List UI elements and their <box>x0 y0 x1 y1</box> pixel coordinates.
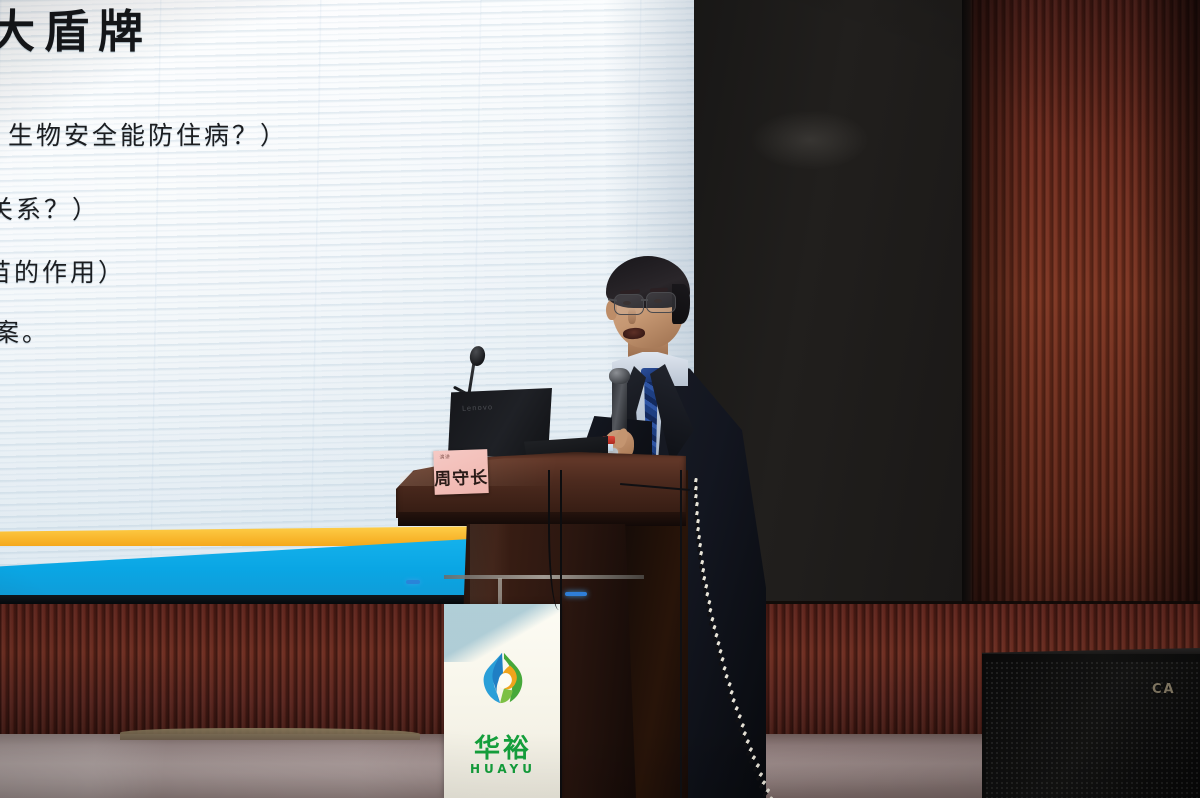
power-cable-loop <box>548 470 566 610</box>
photo-scene: 控四大盾牌 物安全？生物安全能防住病？） 疾病有关系？） 待疫苗的作用） 敦预案… <box>0 0 1200 798</box>
podium-indicator-led-secondary <box>406 580 420 584</box>
banner-brand-en: HUAYU <box>444 762 562 776</box>
podium-indicator-led <box>565 592 587 596</box>
speaker-name-card: 演讲 周守长 <box>433 449 489 495</box>
banner-brand-cn: 华裕 <box>444 728 562 765</box>
slide-bullet-2: 疾病有关系？） <box>0 190 100 226</box>
slide-bullet-4: 敦预案。 <box>0 313 50 349</box>
nose <box>628 308 636 324</box>
wood-slat-wall-right <box>972 0 1200 660</box>
speaker-brand-label: CA <box>1152 682 1176 697</box>
slide-bullet-1: 物安全？生物安全能防住病？） <box>0 116 288 152</box>
name-card-subtitle: 演讲 <box>439 453 450 460</box>
braided-audio-cable <box>690 478 810 798</box>
podium-ledge <box>398 512 686 526</box>
name-card-name: 周守长 <box>434 463 489 490</box>
eyeglasses-lens-right <box>646 292 676 313</box>
huayu-hexagon-flame-logo <box>474 650 532 706</box>
slide-title: 控四大盾牌 <box>0 6 152 58</box>
floor-edge-lip <box>120 728 420 740</box>
laptop-brand-logo: Lenovo <box>462 403 494 413</box>
eyeglasses-bridge <box>641 299 648 301</box>
podium-metal-rail <box>444 575 644 579</box>
microphone-capsule-icon <box>609 368 630 384</box>
slide-bullet-3: 待疫苗的作用） <box>0 253 126 289</box>
